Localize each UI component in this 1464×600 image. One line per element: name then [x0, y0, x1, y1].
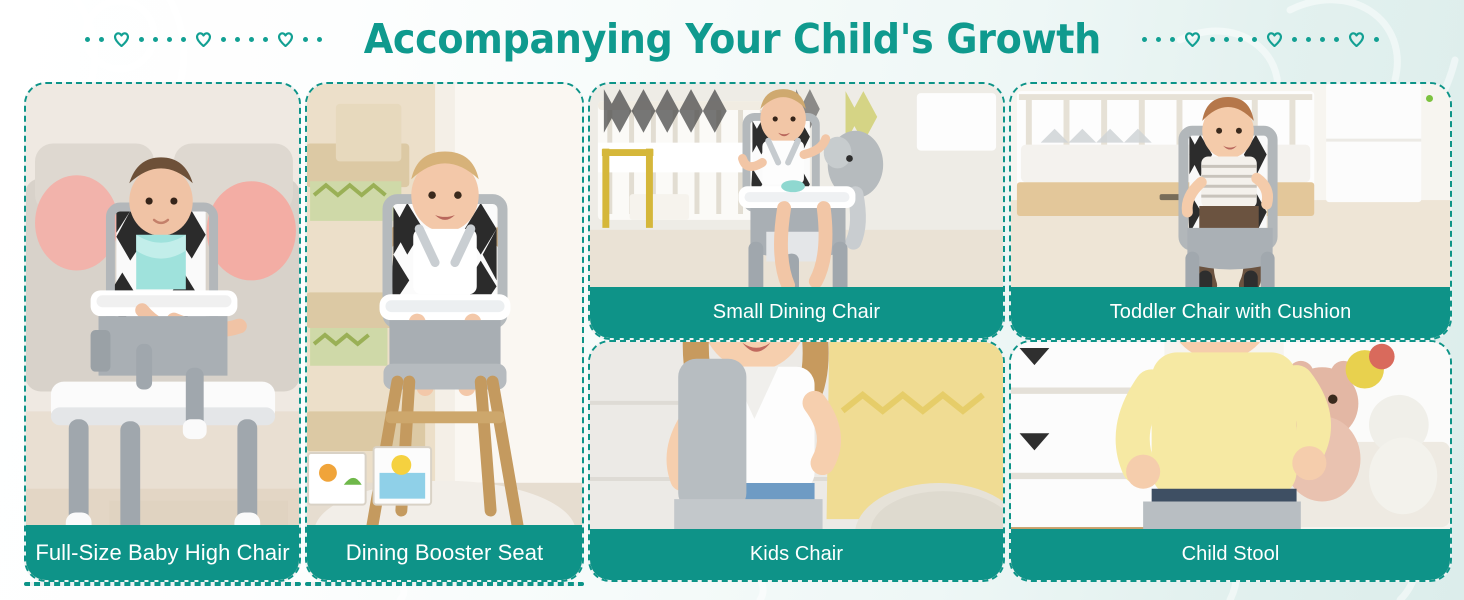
header-decoration-left	[0, 27, 326, 51]
dot-icon	[1142, 37, 1147, 42]
dot-icon	[249, 37, 254, 42]
dot-icon	[153, 37, 158, 42]
heart-icon	[1348, 31, 1365, 47]
heart-icon	[277, 31, 294, 47]
dot-icon	[85, 37, 90, 42]
product-label: Dining Booster Seat	[305, 525, 584, 582]
page-title: Accompanying Your Child's Growth	[363, 19, 1100, 60]
heart-icon	[1184, 31, 1201, 47]
product-label: Learning Table & Chair Set	[24, 582, 301, 586]
header: Accompanying Your Child's Growth	[0, 0, 1464, 78]
dot-icon	[303, 37, 308, 42]
dot-icon	[139, 37, 144, 42]
dot-icon	[263, 37, 268, 42]
product-card-small-dining-chair[interactable]: Small Dining Chair	[588, 82, 1005, 340]
product-card-building-block-table-chair-set[interactable]: Building Block Table & Chair Set	[305, 582, 584, 586]
dot-icon	[1292, 37, 1297, 42]
dot-icon	[1306, 37, 1311, 42]
dot-icon	[317, 37, 322, 42]
heart-icon	[113, 31, 130, 47]
dot-icon	[1238, 37, 1243, 42]
product-card-toddler-chair-with-cushion[interactable]: Toddler Chair with Cushion	[1009, 82, 1452, 340]
product-card-kids-chair[interactable]: Kids Chair	[588, 340, 1005, 582]
infographic-page: Accompanying Your Child's Growth	[0, 0, 1464, 600]
product-card-full-size-baby-high-chair[interactable]: Full-Size Baby High Chair	[24, 82, 301, 582]
product-label: Toddler Chair with Cushion	[1009, 287, 1452, 340]
dot-icon	[99, 37, 104, 42]
status-dot-indicator	[1426, 95, 1433, 102]
product-label: Kids Chair	[588, 529, 1005, 582]
product-photo	[26, 84, 299, 580]
dot-icon	[221, 37, 226, 42]
dot-icon	[1334, 37, 1339, 42]
dot-icon	[235, 37, 240, 42]
dot-icon	[1170, 37, 1175, 42]
product-photo	[307, 84, 582, 580]
dot-icon	[167, 37, 172, 42]
dot-icon	[1374, 37, 1379, 42]
product-grid: Full-Size Baby High Chair	[24, 82, 1440, 582]
product-label: Small Dining Chair	[588, 287, 1005, 340]
dot-icon	[1156, 37, 1161, 42]
product-card-dining-booster-seat[interactable]: Dining Booster Seat	[305, 82, 584, 582]
dot-icon	[1210, 37, 1215, 42]
product-card-learning-table-chair-set[interactable]: Learning Table & Chair Set	[24, 582, 301, 586]
dot-icon	[1224, 37, 1229, 42]
dot-icon	[1320, 37, 1325, 42]
heart-icon	[195, 31, 212, 47]
product-label: Building Block Table & Chair Set	[305, 582, 584, 586]
product-label: Full-Size Baby High Chair	[24, 525, 301, 582]
dot-icon	[181, 37, 186, 42]
header-decoration-right	[1138, 27, 1464, 51]
heart-icon	[1266, 31, 1283, 47]
dot-icon	[1252, 37, 1257, 42]
product-card-child-stool[interactable]: Child Stool	[1009, 340, 1452, 582]
product-label: Child Stool	[1009, 529, 1452, 582]
